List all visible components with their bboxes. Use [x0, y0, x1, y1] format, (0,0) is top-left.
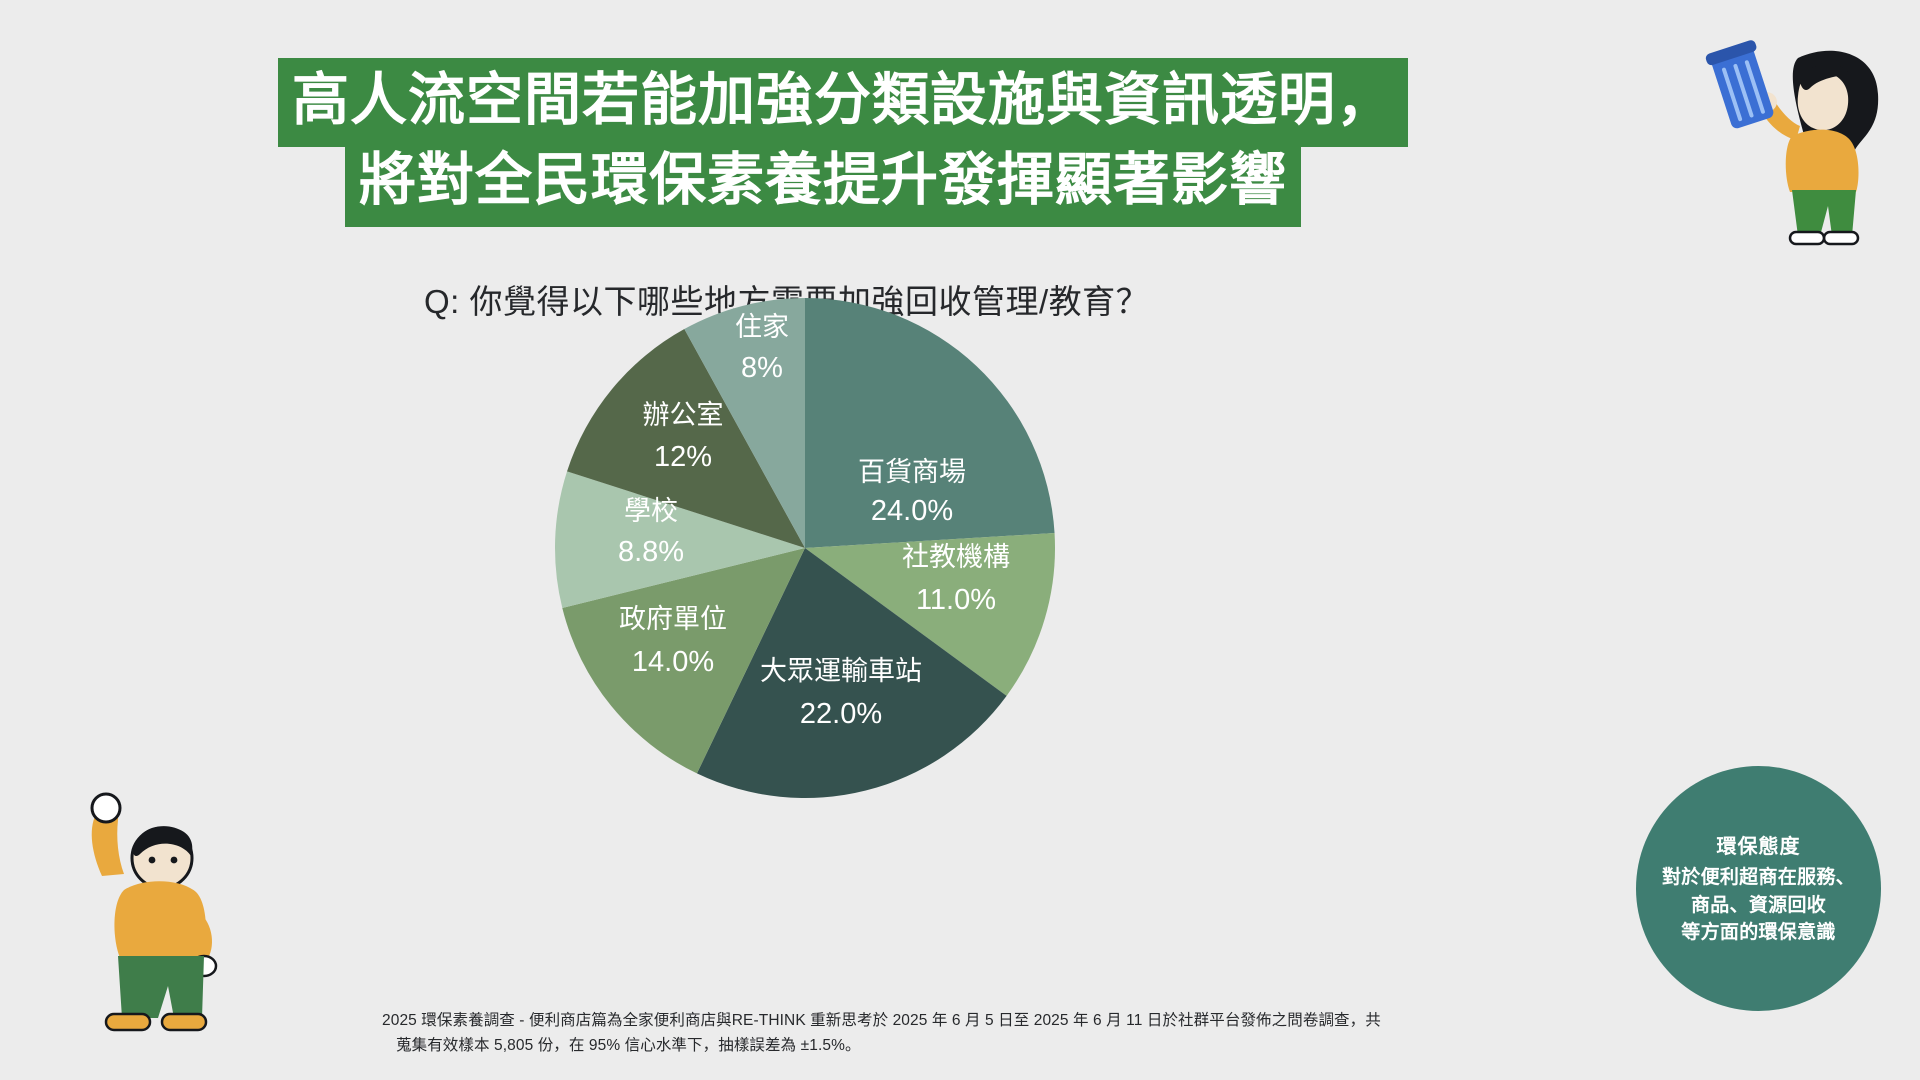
pie-slice-value-2: 22.0% [800, 698, 882, 730]
pie-slice-name-4: 學校 [624, 496, 678, 526]
title-line-1: 高人流空間若能加強分類設施與資訊透明， [278, 58, 1408, 147]
pie-slice-value-1: 11.0% [916, 584, 996, 616]
infographic-canvas: 高人流空間若能加強分類設施與資訊透明， 將對全民環保素養提升發揮顯著影響 Q: … [0, 0, 1920, 1080]
footnote: 2025 環保素養調查 - 便利商店篇為全家便利商店與RE-THINK 重新思考… [382, 1008, 1562, 1058]
title-line-2: 將對全民環保素養提升發揮顯著影響 [345, 138, 1301, 227]
pie-slice-name-2: 大眾運輸車站 [760, 656, 922, 686]
badge-line-1: 對於便利超商在服務、 [1662, 864, 1855, 892]
pie-slice-name-0: 百貨商場 [858, 457, 966, 487]
pie-slice-name-6: 住家 [735, 312, 789, 342]
badge-title: 環保態度 [1717, 830, 1801, 859]
pie-slice-value-4: 8.8% [618, 536, 684, 568]
status-badge: 環保態度 對於便利超商在服務、 商品、資源回收 等方面的環保意識 [1636, 766, 1881, 1011]
pie-slice-value-5: 12% [654, 441, 712, 473]
pie-slice-name-3: 政府單位 [619, 604, 727, 634]
pie-slice-name-1: 社教機構 [902, 542, 1010, 572]
person-holding-recycling-bin-illustration [1680, 40, 1890, 260]
badge-line-2: 商品、資源回收 [1691, 892, 1826, 920]
pie-slice-name-5: 辦公室 [643, 400, 724, 430]
footnote-line-1: 2025 環保素養調查 - 便利商店篇為全家便利商店與RE-THINK 重新思考… [382, 1012, 1381, 1029]
badge-line-3: 等方面的環保意識 [1681, 919, 1835, 947]
title-line-1-text: 高人流空間若能加強分類設施與資訊透明， [278, 58, 1408, 147]
person-sitting-illustration [62, 780, 242, 1070]
title-line-2-text: 將對全民環保素養提升發揮顯著影響 [345, 138, 1301, 227]
footnote-line-2: 蒐集有效樣本 5,805 份，在 95% 信心水準下，抽樣誤差為 ±1.5%。 [382, 1033, 1562, 1058]
pie-chart: 百貨商場24.0%社教機構11.0%大眾運輸車站22.0%政府單位14.0%學校… [555, 298, 1055, 798]
pie-slice-value-3: 14.0% [632, 646, 714, 678]
pie-slice-value-6: 8% [741, 352, 783, 384]
pie-chart-svg: 百貨商場24.0%社教機構11.0%大眾運輸車站22.0%政府單位14.0%學校… [555, 298, 1055, 798]
pie-slice-value-0: 24.0% [871, 495, 953, 527]
